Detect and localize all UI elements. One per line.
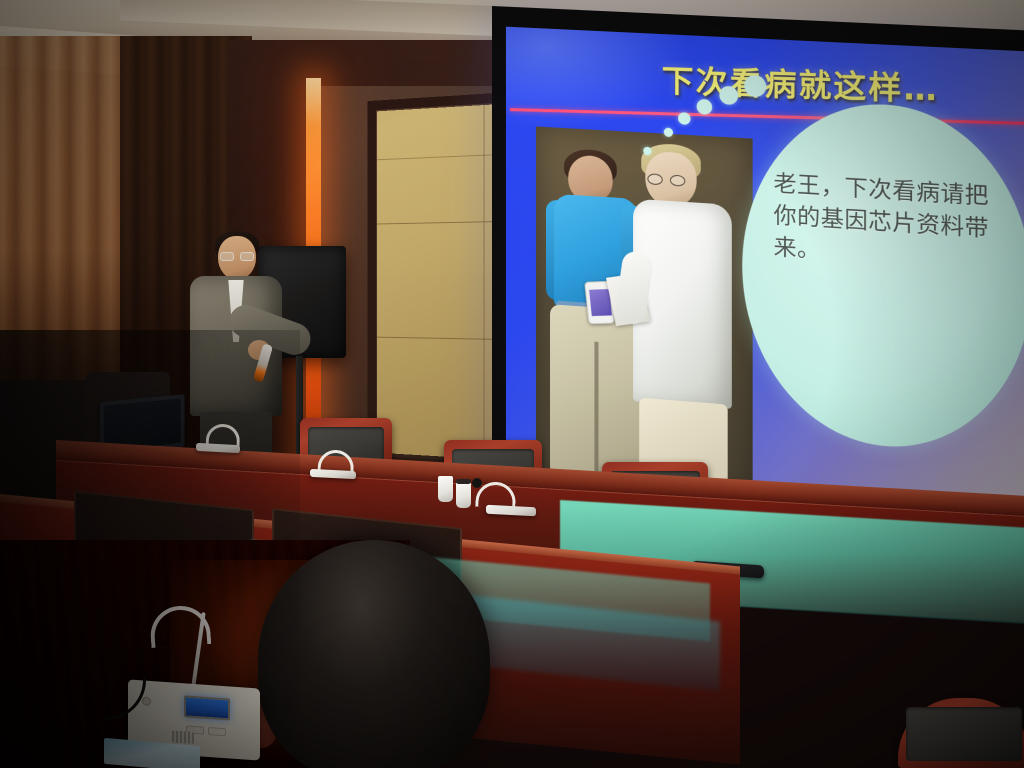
projection-screen: 下次看病就这样… [506, 27, 1024, 541]
thought-dot [697, 99, 712, 115]
console-button[interactable] [208, 727, 226, 736]
paper-cup [438, 476, 453, 502]
doctor-white-coat [633, 199, 732, 409]
fabric-panel-wall [377, 104, 502, 460]
thought-dot [643, 147, 651, 156]
thought-bubble-text: 老王，下次看病请把你的基因芯片资料带来。 [773, 168, 999, 279]
console-speaker-grille [172, 730, 194, 744]
thought-dot [678, 112, 690, 125]
thought-dot [719, 86, 738, 105]
thought-dot [744, 75, 766, 98]
paper-cup-lid [456, 479, 471, 484]
presenter-glasses-icon [220, 252, 256, 261]
paper-cup [456, 482, 471, 508]
console-indicator [142, 696, 151, 706]
panel-seam-vertical [484, 105, 485, 459]
conference-chair [898, 698, 1024, 768]
presenter [170, 236, 310, 468]
microphone-capsule [472, 478, 482, 488]
thought-dot [664, 128, 673, 138]
console-lcd-display [184, 695, 230, 720]
patient-leg-seam [594, 342, 598, 474]
slide-photo [536, 126, 753, 496]
audience-member-head [258, 540, 490, 768]
conference-room-photo: 下次看病就这样… [0, 0, 1024, 768]
